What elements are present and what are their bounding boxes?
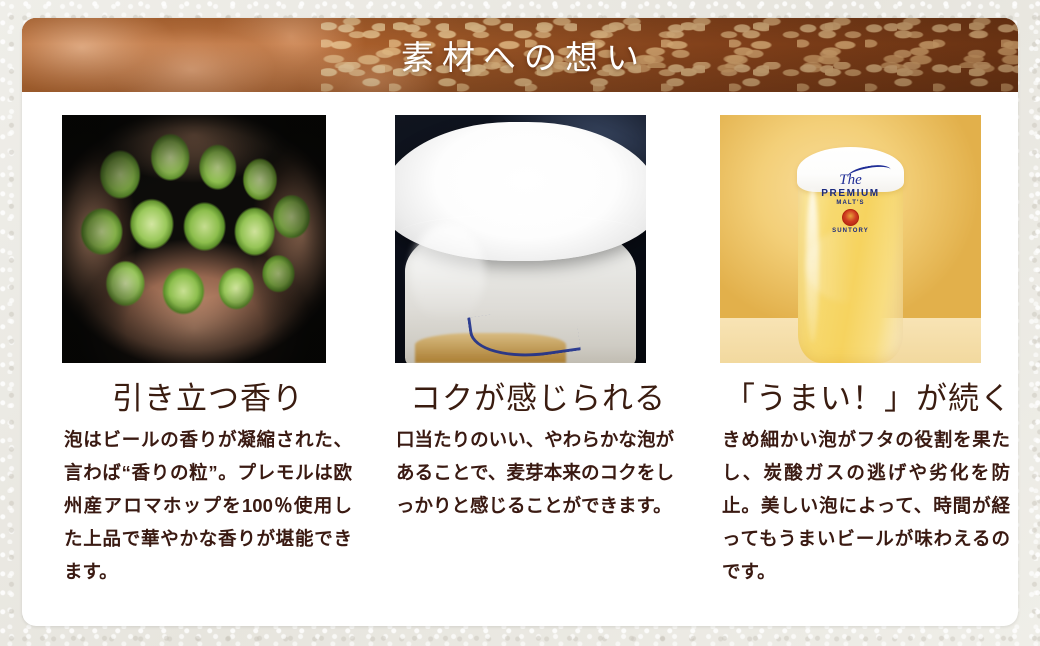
feature-column-2: コクが感じられる 口当たりのいい、やわらかな泡があることで、麦芽本来のコクをしっ… bbox=[390, 115, 686, 626]
foam-head-shape bbox=[797, 147, 904, 192]
premium-malts-glass-photo: The PREMIUM MALT'S SUNTORY bbox=[720, 115, 981, 363]
foam-gloss bbox=[410, 224, 485, 323]
feature-heading-3: 「うまい！」が続く bbox=[720, 381, 1016, 417]
feature-columns: 引き立つ香り 泡はビールの香りが凝縮された、言わば“香りの粒”。プレモルは欧州産… bbox=[22, 92, 1018, 626]
feature-body-1: 泡はビールの香りが凝縮された、言わば“香りの粒”。プレモルは欧州産アロマホップを… bbox=[60, 423, 356, 588]
feature-column-3: The PREMIUM MALT'S SUNTORY 「うまい！」が続く きめ細… bbox=[720, 115, 1016, 626]
feature-heading-1: 引き立つ香り bbox=[60, 381, 356, 417]
photo-vignette bbox=[62, 115, 326, 363]
feature-heading-2: コクが感じられる bbox=[390, 381, 686, 417]
beer-foam-closeup-photo bbox=[395, 115, 646, 363]
feature-body-3: きめ細かい泡がフタの役割を果たし、炭酸ガスの逃げや劣化を防止。美しい泡によって、… bbox=[720, 423, 1016, 588]
feature-body-2: 口当たりのいい、やわらかな泡があることで、麦芽本来のコクをしっかりと感じることが… bbox=[390, 423, 686, 522]
section-banner: 素材への想い bbox=[22, 18, 1018, 92]
content-card: 素材への想い 引き立つ香り 泡はビールの香りが凝縮された、言わば“香りの粒”。プ… bbox=[22, 18, 1018, 626]
banner-title: 素材への想い bbox=[22, 18, 1018, 92]
feature-column-1: 引き立つ香り 泡はビールの香りが凝縮された、言わば“香りの粒”。プレモルは欧州産… bbox=[60, 115, 356, 626]
glass-reflection bbox=[806, 229, 895, 303]
hops-in-hands-photo bbox=[62, 115, 326, 363]
